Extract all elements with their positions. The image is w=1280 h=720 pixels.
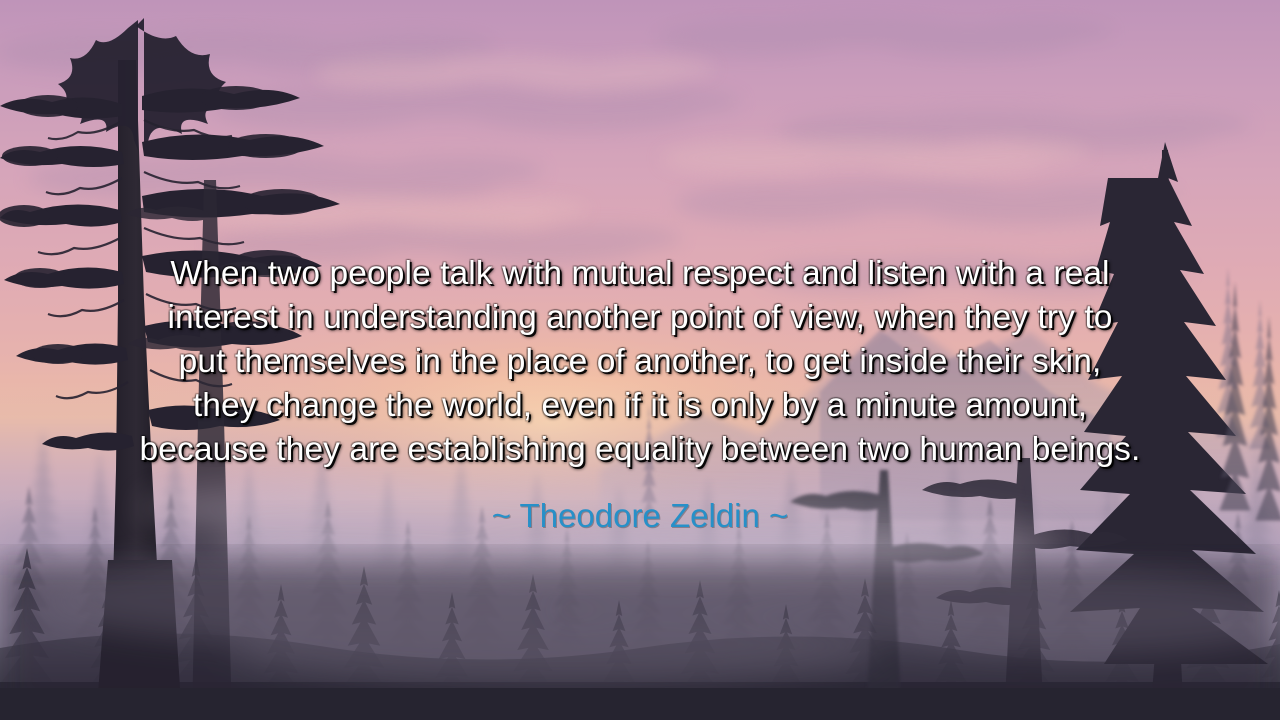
quote-image-canvas: When two people talk with mutual respect… (0, 0, 1280, 720)
forest-dusk-background-image (0, 0, 1280, 720)
